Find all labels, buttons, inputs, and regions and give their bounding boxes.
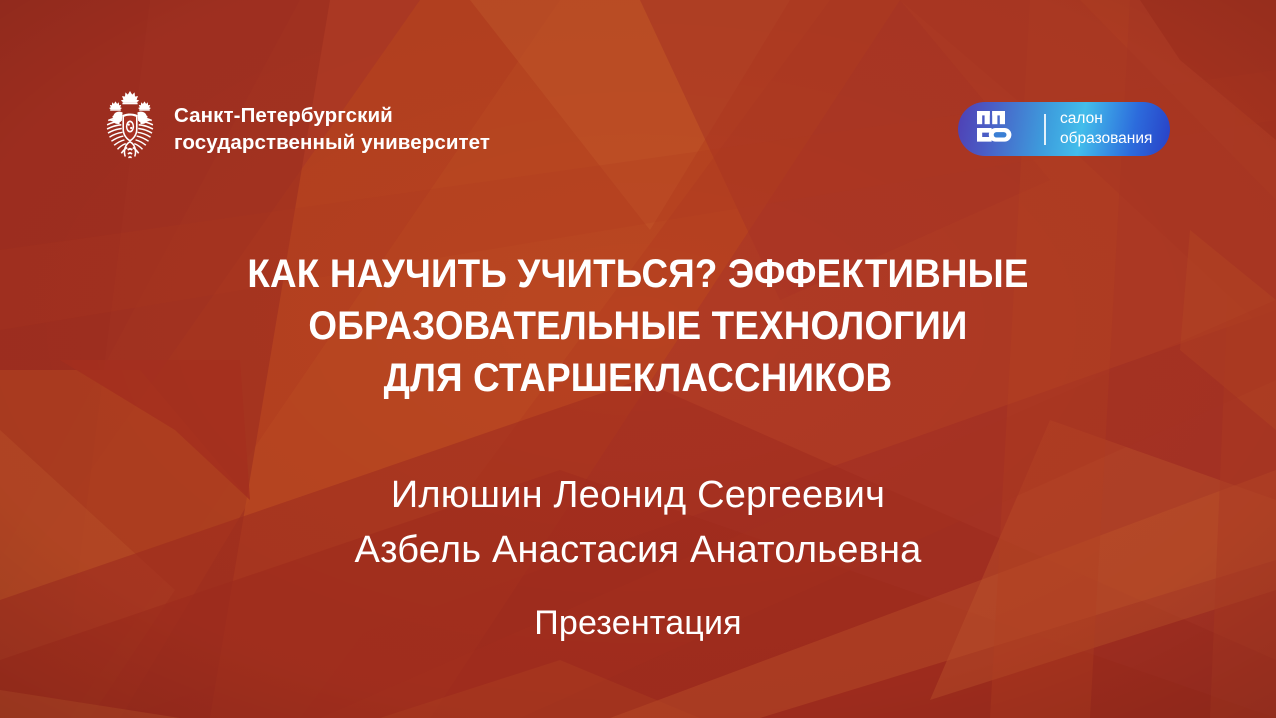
spbu-logo-text: Санкт-Петербургский государственный унив… xyxy=(174,103,490,156)
slide-subtitle: Презентация xyxy=(0,604,1276,643)
author-list: Илюшин Леонид Сергеевич Азбель Анастасия… xyxy=(0,468,1276,578)
spbu-logo-line2: государственный университет xyxy=(174,130,490,157)
spbu-logo-line1: Санкт-Петербургский xyxy=(174,103,490,130)
double-headed-eagle-emblem-svg xyxy=(100,88,160,166)
mmco-logo-text: салон образования xyxy=(1060,109,1152,149)
mmco-logo-line1: салон xyxy=(1060,109,1152,129)
double-headed-eagle-icon xyxy=(100,88,160,171)
page-title: КАК НАУЧИТЬ УЧИТЬСЯ? ЭФФЕКТИВНЫЕ ОБРАЗОВ… xyxy=(51,248,1225,404)
mmco-monogram-icon xyxy=(976,110,1030,149)
mmco-monogram-svg xyxy=(976,110,1030,144)
page-title-line3: ДЛЯ СТАРШЕКЛАССНИКОВ xyxy=(51,352,1225,404)
mmco-logo: салон образования xyxy=(958,102,1170,156)
page-title-line2: ОБРАЗОВАТЕЛЬНЫЕ ТЕХНОЛОГИИ xyxy=(51,300,1225,352)
mmco-logo-line2: образования xyxy=(1060,129,1152,149)
spbu-logo: Санкт-Петербургский государственный унив… xyxy=(100,88,490,171)
author-name-2: Азбель Анастасия Анатольевна xyxy=(0,523,1276,578)
title-slide: Санкт-Петербургский государственный унив… xyxy=(0,0,1276,718)
page-title-line1: КАК НАУЧИТЬ УЧИТЬСЯ? ЭФФЕКТИВНЫЕ xyxy=(51,248,1225,300)
author-name-1: Илюшин Леонид Сергеевич xyxy=(0,468,1276,523)
mmco-divider xyxy=(1044,114,1046,145)
